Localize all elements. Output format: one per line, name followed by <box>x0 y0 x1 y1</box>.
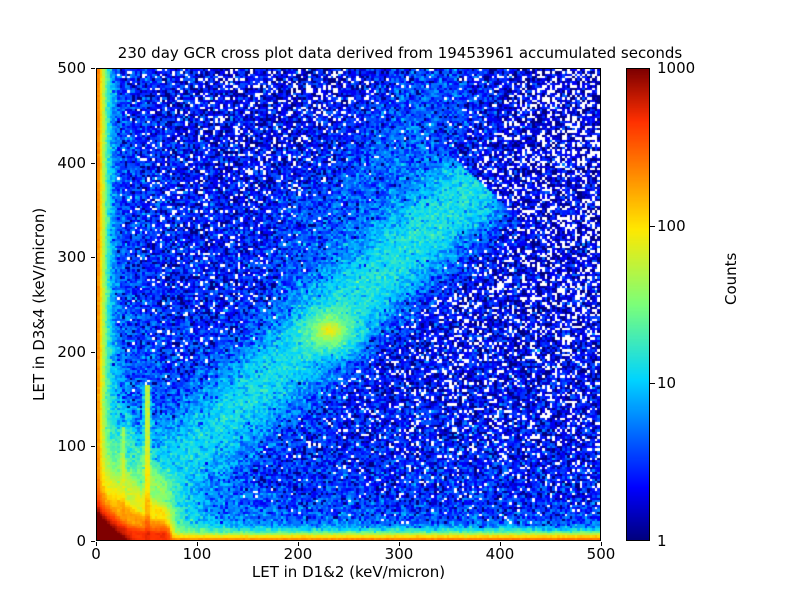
figure-root: 230 day GCR cross plot data derived from… <box>0 0 800 600</box>
y-tick-mark <box>91 352 95 353</box>
x-tick-label: 400 <box>486 545 515 563</box>
colorbar-gradient <box>627 69 649 540</box>
y-tick-label: 100 <box>57 437 86 455</box>
plot-area <box>96 68 601 541</box>
y-tick-label: 400 <box>57 154 86 172</box>
y-axis-label: LET in D3&4 (keV/micron) <box>30 208 48 401</box>
colorbar-tick-mark <box>650 226 655 227</box>
x-tick-label: 500 <box>587 545 616 563</box>
y-tick-mark <box>91 163 95 164</box>
x-tick-label: 100 <box>183 545 212 563</box>
colorbar-tick-mark <box>650 383 655 384</box>
colorbar-tick-label: 100 <box>657 217 686 235</box>
y-tick-mark <box>91 68 95 69</box>
y-tick-label: 200 <box>57 343 86 361</box>
x-axis-label: LET in D1&2 (keV/micron) <box>96 563 601 581</box>
y-tick-mark <box>91 541 95 542</box>
y-tick-label: 300 <box>57 248 86 266</box>
colorbar <box>626 68 650 541</box>
colorbar-label: Counts <box>722 253 740 305</box>
colorbar-tick-label: 1 <box>657 532 667 550</box>
colorbar-tick-label: 10 <box>657 374 676 392</box>
scatter-heatmap-canvas <box>97 69 600 540</box>
y-tick-label: 0 <box>76 532 86 550</box>
x-tick-label: 0 <box>91 545 101 563</box>
x-tick-label: 300 <box>385 545 414 563</box>
colorbar-tick-label: 1000 <box>657 59 695 77</box>
y-tick-mark <box>91 257 95 258</box>
x-tick-label: 200 <box>284 545 313 563</box>
y-tick-label: 500 <box>57 59 86 77</box>
y-tick-mark <box>91 446 95 447</box>
